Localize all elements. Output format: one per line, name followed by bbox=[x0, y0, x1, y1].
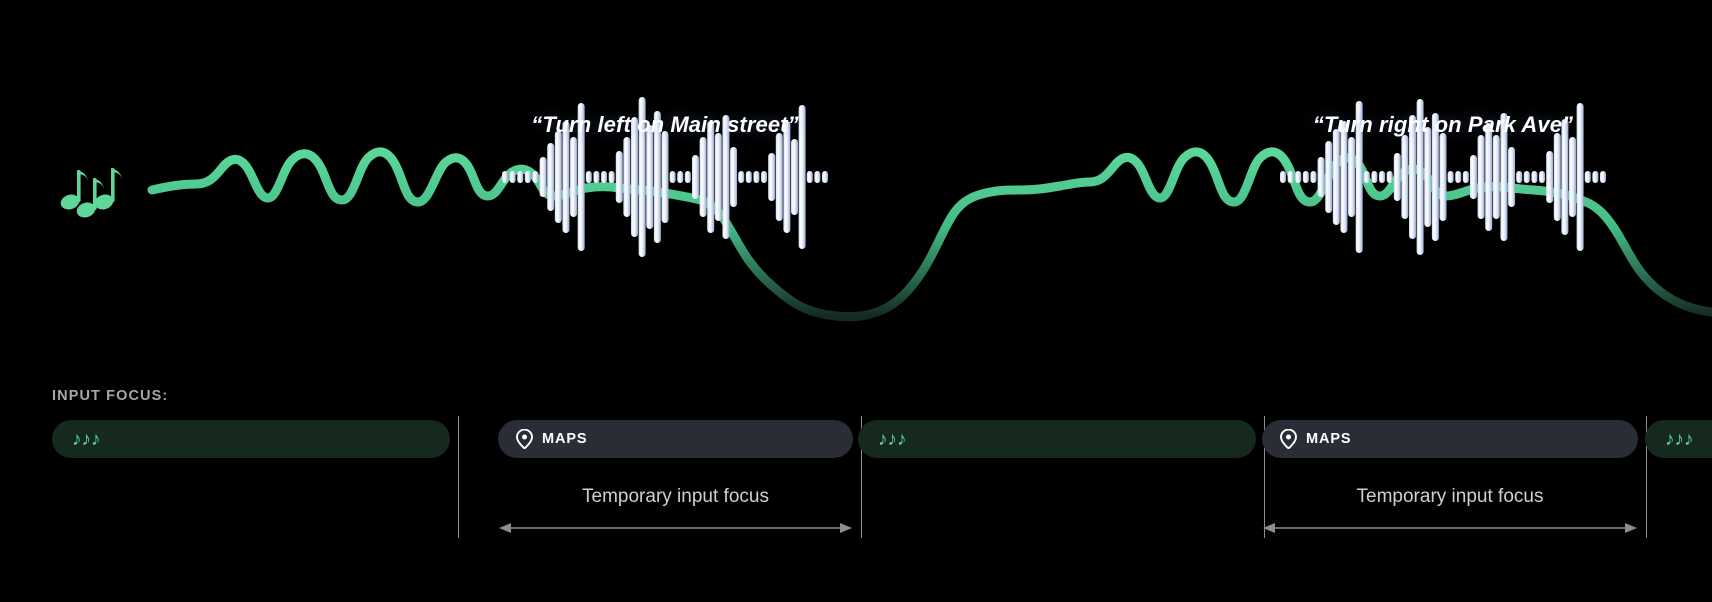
speech-bar bbox=[1585, 171, 1591, 183]
speech-bar bbox=[1592, 171, 1598, 183]
speech-bar bbox=[1325, 141, 1332, 213]
speech-bar bbox=[1539, 171, 1545, 183]
focus-segment-maps: MAPSTemporary input focus bbox=[498, 420, 853, 602]
speech-bar bbox=[540, 157, 547, 197]
speech-bar bbox=[1371, 171, 1377, 183]
focus-segment-music: ♪♪♪ bbox=[52, 420, 450, 602]
focus-pill-label: MAPS bbox=[1306, 431, 1352, 447]
speech-bar bbox=[1394, 153, 1401, 201]
speech-bar bbox=[510, 171, 516, 183]
speech-bar bbox=[1387, 171, 1393, 183]
music-notes-icon: ♪♪♪ bbox=[1665, 430, 1694, 449]
speech-bar bbox=[1577, 103, 1584, 251]
focus-pill-label: MAPS bbox=[542, 431, 588, 447]
speech-bar bbox=[1448, 171, 1454, 183]
speech-bar bbox=[1295, 171, 1301, 183]
speech-bar bbox=[814, 171, 820, 183]
utterance-caption-1: “Turn left on Main street” bbox=[531, 112, 798, 138]
speech-bar bbox=[1318, 157, 1325, 197]
speech-bar bbox=[547, 143, 554, 211]
speech-bar bbox=[1440, 133, 1447, 221]
speech-bar bbox=[776, 133, 783, 221]
speech-bar bbox=[1546, 151, 1553, 203]
speech-bar bbox=[502, 171, 508, 183]
duration-arrow bbox=[498, 517, 853, 539]
map-pin-icon bbox=[516, 429, 533, 449]
speech-bar bbox=[593, 171, 599, 183]
input-focus-track: ♪♪♪ MAPSTemporary input focus ♪♪♪ MAPSTe… bbox=[0, 420, 1712, 602]
input-focus-panel: INPUT FOCUS: ♪♪♪ MAPSTemporary input foc… bbox=[0, 372, 1712, 602]
focus-segment-maps: MAPSTemporary input focus bbox=[1262, 420, 1638, 602]
speech-bar bbox=[700, 137, 707, 217]
speech-bar bbox=[692, 155, 699, 199]
audio-signal-visualization: “Turn left on Main street” “Turn right o… bbox=[0, 0, 1712, 360]
waveform-svg bbox=[0, 0, 1712, 360]
speech-bar bbox=[1401, 135, 1408, 219]
speech-bar bbox=[570, 137, 577, 217]
speech-bar bbox=[1280, 171, 1286, 183]
speech-bar bbox=[623, 137, 630, 217]
speech-bar bbox=[753, 171, 759, 183]
music-notes-icon: ♪♪♪ bbox=[72, 430, 101, 449]
speech-bar bbox=[586, 171, 592, 183]
speech-bar bbox=[1524, 171, 1530, 183]
speech-bar bbox=[1493, 135, 1500, 219]
speech-bar bbox=[616, 151, 623, 203]
speech-bar bbox=[1531, 171, 1537, 183]
speech-bar bbox=[768, 153, 775, 201]
segment-boundary-rule bbox=[458, 416, 459, 538]
map-pin-icon bbox=[1280, 429, 1297, 449]
input-focus-label: INPUT FOCUS: bbox=[52, 388, 168, 404]
music-focus-pill[interactable]: ♪♪♪ bbox=[858, 420, 1256, 458]
music-focus-pill[interactable]: ♪♪♪ bbox=[52, 420, 450, 458]
speech-bar bbox=[677, 171, 683, 183]
speech-bar bbox=[1463, 171, 1469, 183]
speech-bar bbox=[1364, 171, 1370, 183]
music-focus-pill[interactable]: ♪♪♪ bbox=[1645, 420, 1712, 458]
speech-bar bbox=[646, 125, 653, 229]
speech-bar bbox=[1569, 137, 1576, 217]
speech-bar bbox=[685, 171, 691, 183]
focus-segment-music: ♪♪♪ bbox=[858, 420, 1256, 602]
speech-bar bbox=[1348, 137, 1355, 217]
speech-bar bbox=[746, 171, 752, 183]
temporary-focus-annotation: Temporary input focus bbox=[1262, 486, 1638, 542]
duration-arrow bbox=[1262, 517, 1638, 539]
speech-bar bbox=[807, 171, 813, 183]
music-notes-icon bbox=[58, 158, 128, 220]
speech-bar bbox=[1424, 127, 1431, 227]
speech-bar bbox=[1516, 171, 1522, 183]
speech-bar bbox=[532, 171, 538, 183]
speech-bar bbox=[555, 131, 562, 223]
speech-bar bbox=[1288, 171, 1294, 183]
speech-bar bbox=[730, 147, 737, 207]
speech-bar bbox=[601, 171, 607, 183]
speech-bar bbox=[1554, 133, 1561, 221]
speech-bar bbox=[791, 139, 798, 215]
speech-bar bbox=[1485, 123, 1492, 231]
speech-bar bbox=[1470, 155, 1477, 199]
speech-bar bbox=[1478, 135, 1485, 219]
speech-bar bbox=[1379, 171, 1385, 183]
speech-bar bbox=[662, 131, 669, 223]
temporary-focus-text: Temporary input focus bbox=[1262, 486, 1638, 508]
music-notes-icon: ♪♪♪ bbox=[878, 430, 907, 449]
utterance-caption-2: “Turn right on Park Ave” bbox=[1313, 112, 1573, 138]
speech-bar bbox=[799, 105, 806, 249]
speech-bar bbox=[609, 171, 615, 183]
speech-bar bbox=[670, 171, 676, 183]
focus-segment-music: ♪♪♪ bbox=[1645, 420, 1712, 602]
speech-bar bbox=[1508, 147, 1515, 207]
maps-focus-pill[interactable]: MAPS bbox=[498, 420, 853, 458]
temporary-focus-text: Temporary input focus bbox=[498, 486, 853, 508]
maps-focus-pill[interactable]: MAPS bbox=[1262, 420, 1638, 458]
speech-bar bbox=[517, 171, 523, 183]
speech-bar bbox=[1455, 171, 1461, 183]
screen-root: “Turn left on Main street” “Turn right o… bbox=[0, 0, 1712, 602]
speech-bar bbox=[525, 171, 531, 183]
speech-bar bbox=[715, 133, 722, 221]
speech-bar bbox=[1600, 171, 1606, 183]
speech-bar bbox=[1310, 171, 1316, 183]
temporary-focus-annotation: Temporary input focus bbox=[498, 486, 853, 542]
speech-bar bbox=[761, 171, 767, 183]
speech-bar bbox=[1303, 171, 1309, 183]
speech-bar bbox=[822, 171, 828, 183]
speech-bar bbox=[1333, 129, 1340, 225]
speech-bar bbox=[738, 171, 744, 183]
